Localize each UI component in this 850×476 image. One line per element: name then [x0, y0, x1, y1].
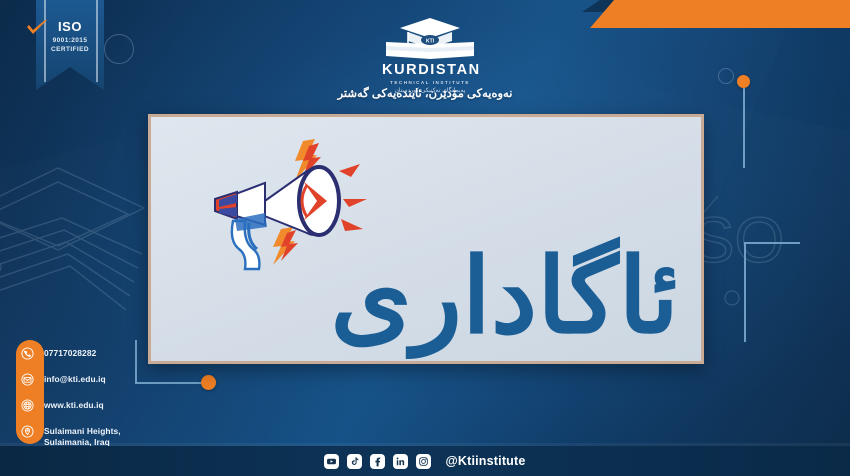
iso-badge: ISO 9001:2015 CERTIFIED [36, 20, 104, 55]
facebook-icon[interactable] [370, 454, 385, 469]
social-bar: @Ktiinstitute [0, 446, 850, 476]
contact-row-email[interactable]: info@kti.edu.iq [10, 370, 150, 396]
graduation-cap-book-icon: KTI [382, 14, 478, 62]
phone-icon [10, 344, 44, 360]
logo-mark: KTI [382, 14, 478, 62]
tiktok-icon[interactable] [347, 454, 362, 469]
contact-address-line1: Sulaimani Heights, [44, 426, 121, 436]
envelope-icon [10, 370, 44, 386]
contact-email: info@kti.edu.iq [44, 370, 106, 385]
logo-name: KURDISTAN [382, 63, 478, 78]
globe-icon [10, 396, 44, 412]
connector-line-right-top [743, 88, 745, 168]
contact-row-phone[interactable]: 07717028282 [10, 344, 150, 370]
location-pin-icon [10, 422, 44, 438]
contact-website: www.kti.edu.iq [44, 396, 104, 411]
connector-dot-bottom-left [201, 375, 216, 390]
connector-dot-right [737, 75, 750, 88]
linkedin-icon[interactable] [393, 454, 408, 469]
tagline: نەوەیەکی مۆدێرن، ئایندەیەکی گەشتر [0, 86, 850, 100]
connector-line-right-h [744, 242, 800, 244]
logo-mark-text: KTI [426, 39, 435, 45]
decorative-circle [718, 68, 734, 84]
social-handle[interactable]: @Ktiinstitute [445, 454, 525, 468]
youtube-icon[interactable] [324, 454, 339, 469]
logo-subtitle: TECHNICAL INSTITUTE [382, 80, 478, 85]
iso-standard: 9001:2015 [36, 36, 104, 45]
contact-phone: 07717028282 [44, 344, 96, 359]
iso-title: ISO [36, 20, 104, 33]
iso-certified: CERTIFIED [36, 45, 104, 54]
contact-block: 07717028282 info@kti.edu.iq [10, 344, 150, 452]
instagram-icon[interactable] [416, 454, 431, 469]
panel-headline: ئاگاداری [241, 239, 679, 355]
announcement-poster: TI ISO ISO 9001:2015 CERTIFIED [0, 0, 850, 476]
announcement-panel: ئاگاداری [148, 114, 704, 364]
top-orange-band [590, 0, 850, 28]
kti-logo: KTI KURDISTAN TECHNICAL INSTITUTE پەیمان… [382, 14, 478, 94]
decorative-circle [104, 34, 134, 64]
panel-inner: ئاگاداری [151, 117, 701, 361]
connector-line-right [744, 242, 746, 342]
contact-row-website[interactable]: www.kti.edu.iq [10, 396, 150, 422]
